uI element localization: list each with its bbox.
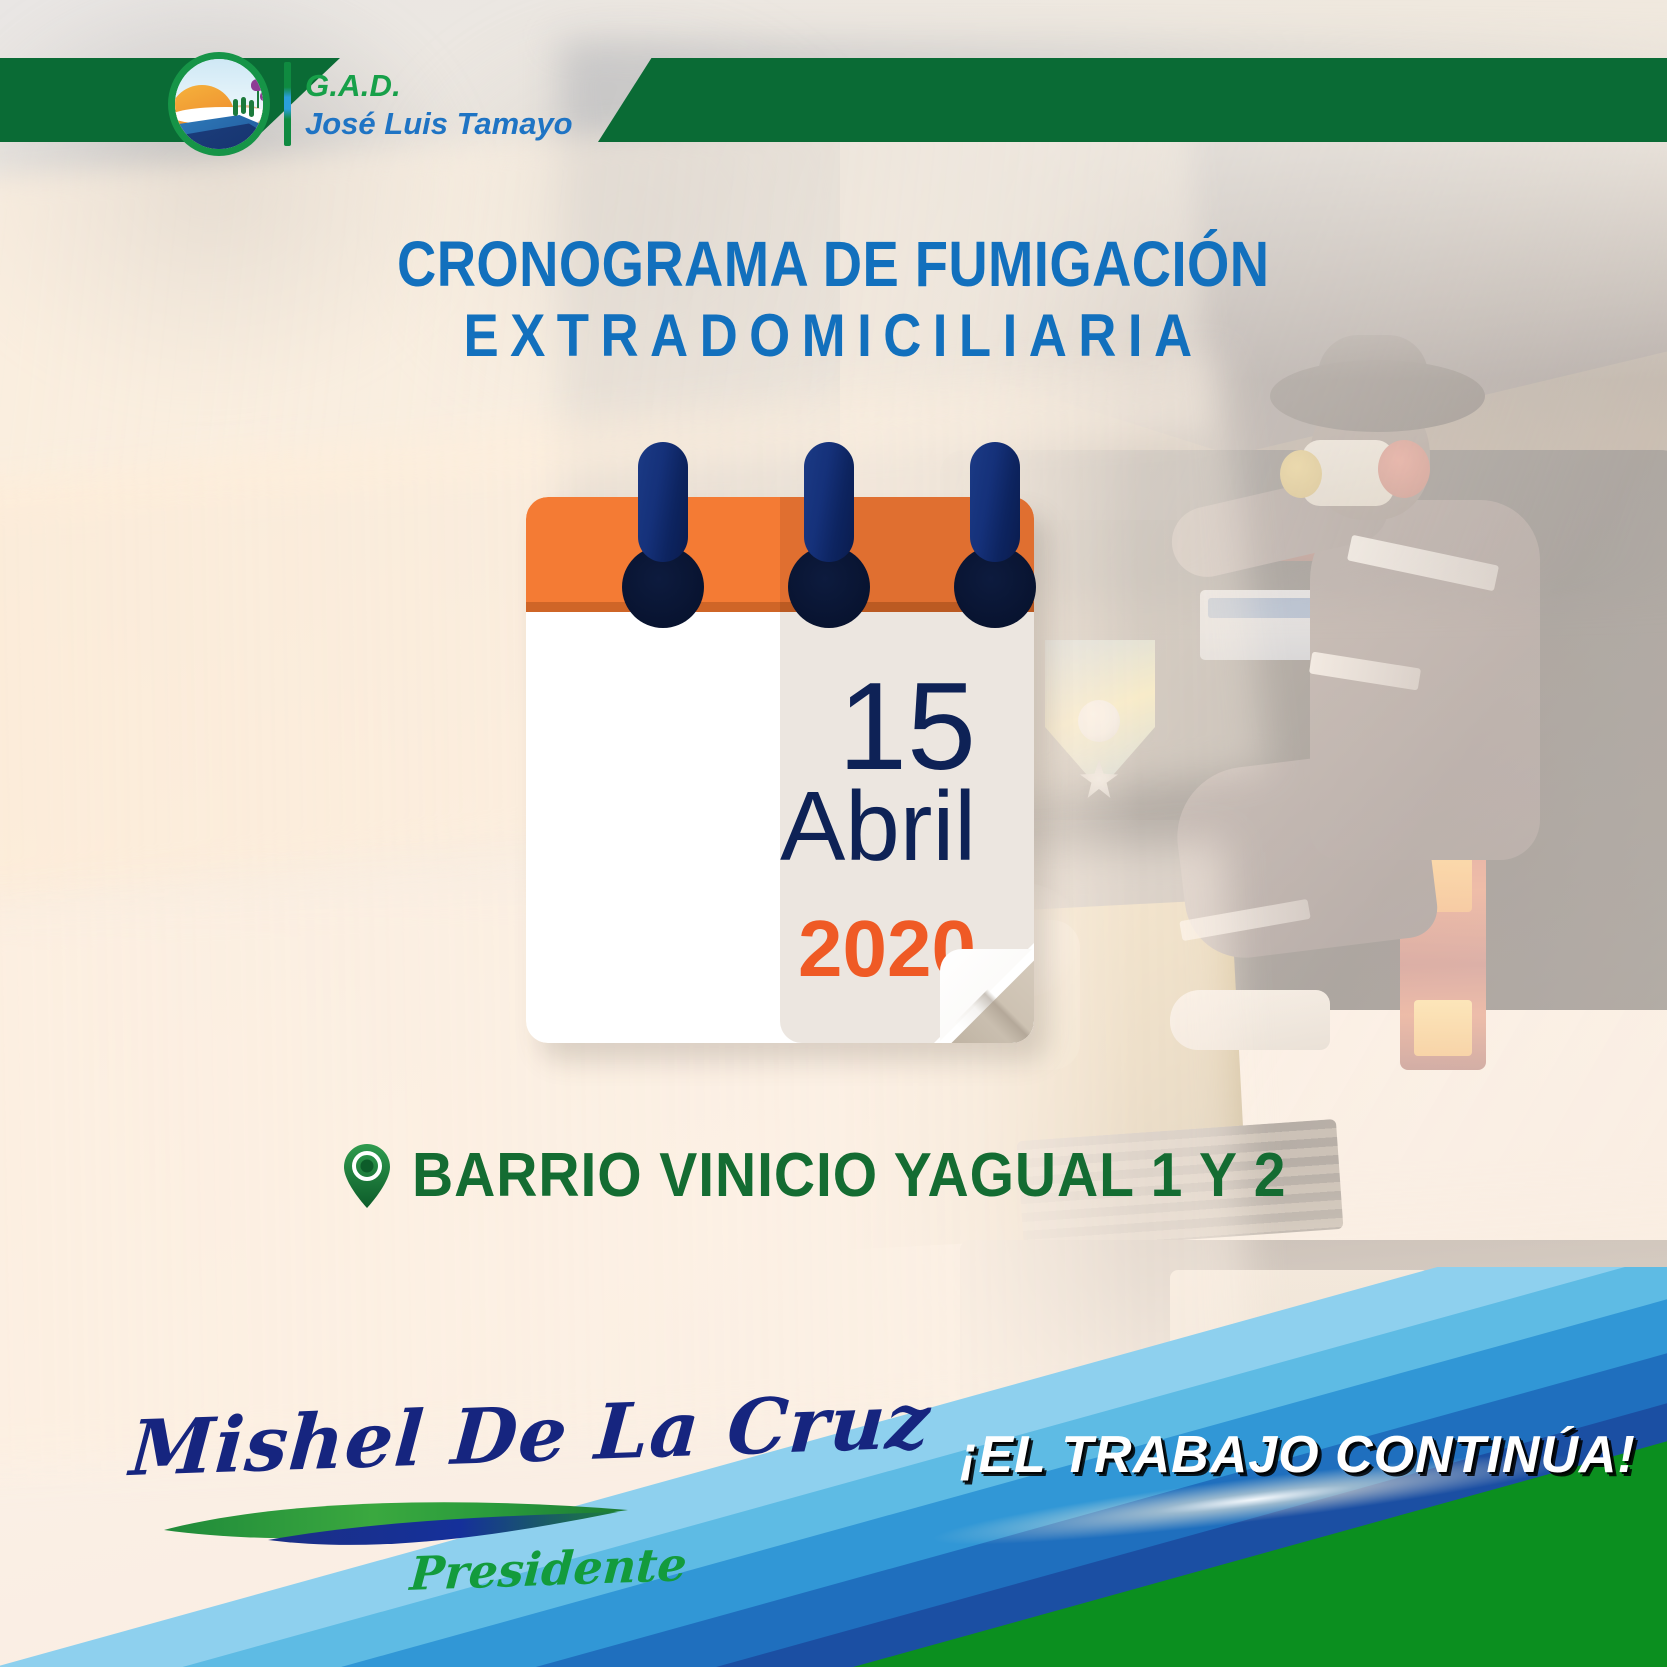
title-line-2: EXTRADOMICILIARIA: [463, 306, 1203, 366]
map-pin-icon: [344, 1144, 390, 1208]
signature-role: Presidente: [408, 1537, 688, 1601]
poster-canvas: G.A.D. José Luis Tamayo CRONOGRAMA DE FU…: [0, 0, 1667, 1667]
gad-emblem-icon: [168, 52, 270, 156]
location-label: BARRIO VINICIO YAGUAL 1 Y 2: [412, 1140, 1286, 1211]
gad-logo: G.A.D. José Luis Tamayo: [168, 52, 573, 156]
calendar-month: Abril: [526, 777, 976, 875]
title-line-1: CRONOGRAMA DE FUMIGACIÓN: [397, 232, 1269, 296]
logo-municipality-name: José Luis Tamayo: [305, 108, 573, 139]
footer-slogan: ¡EL TRABAJO CONTINÚA!: [960, 1425, 1600, 1485]
logo-acronym: G.A.D.: [305, 70, 573, 101]
calendar-year: 2020: [526, 909, 976, 989]
header-band-right: [598, 58, 1667, 142]
signature-block: Mishel De La Cruz Presidente: [130, 1390, 690, 1620]
page-title: CRONOGRAMA DE FUMIGACIÓN EXTRADOMICILIAR…: [0, 232, 1667, 366]
logo-divider: [284, 62, 291, 146]
calendar-card: 15 Abril 2020: [526, 497, 1034, 1043]
location-row: BARRIO VINICIO YAGUAL 1 Y 2: [344, 1140, 1362, 1211]
calendar-rings: [606, 497, 1066, 637]
